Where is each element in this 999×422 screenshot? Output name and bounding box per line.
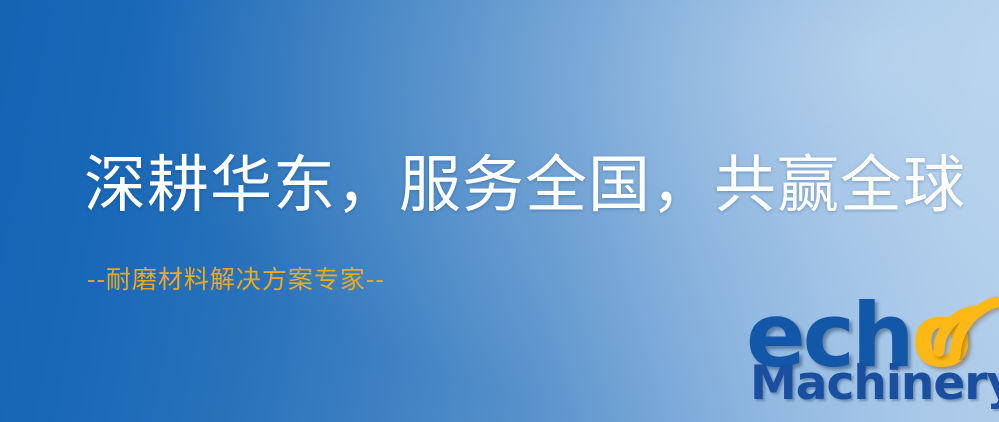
logo-tagline-text: Machinery	[750, 356, 999, 411]
page-subtitle: --耐磨材料解决方案专家--	[87, 266, 385, 294]
company-logo[interactable]: echo Machinery®	[744, 296, 996, 420]
page-title: 深耕华东，服务全国，共赢全球	[84, 152, 966, 217]
logo-tagline: Machinery®	[750, 360, 999, 407]
hero-banner: 深耕华东，服务全国，共赢全球 --耐磨材料解决方案专家-- echo Machi…	[0, 0, 999, 422]
echo-wave-icon	[922, 288, 999, 360]
